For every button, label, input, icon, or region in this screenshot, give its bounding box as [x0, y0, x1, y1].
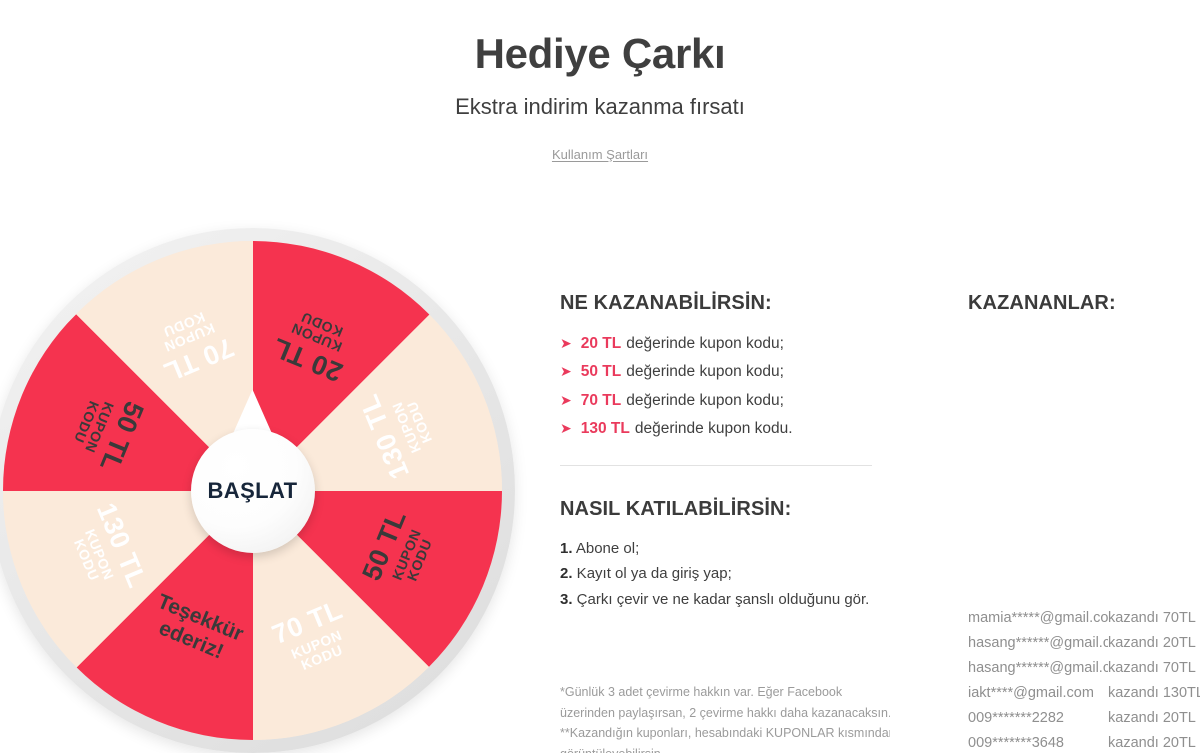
- winner-row: hasang******@gmail.comkazandı 20TL: [968, 631, 1200, 656]
- howto-steps: 1. Abone ol;2. Kayıt ol ya da giriş yap;…: [560, 539, 880, 610]
- winner-prize: kazandı 20TL: [1108, 736, 1196, 751]
- prize-amount: 50 TL: [581, 363, 621, 380]
- step-text: Çarkı çevir ve ne kadar şanslı olduğunu …: [573, 591, 870, 608]
- arrow-bullet-icon: ➤: [560, 393, 572, 407]
- arrow-bullet-icon: ➤: [560, 421, 572, 435]
- prize-text: değerinde kupon kodu;: [626, 392, 784, 409]
- footnote-line: *Günlük 3 adet çevirme hakkın var. Eğer …: [560, 682, 890, 703]
- howto-title: NASIL KATILABİLİRSİN:: [560, 498, 880, 521]
- prize-amount: 130 TL: [581, 420, 630, 437]
- step-number: 3.: [560, 591, 573, 608]
- howto-step: 3. Çarkı çevir ve ne kadar şanslı olduğu…: [560, 590, 880, 610]
- spin-start-label: BAŞLAT: [208, 478, 298, 504]
- winner-user: 009*******3648: [968, 736, 1108, 751]
- winner-user: iakt****@gmail.com: [968, 686, 1108, 701]
- winner-prize: kazandı 20TL: [1108, 636, 1196, 651]
- info-column: NE KAZANABİLİRSİN: ➤20 TLdeğerinde kupon…: [560, 292, 880, 615]
- arrow-bullet-icon: ➤: [560, 336, 572, 350]
- prize-text: değerinde kupon kodu.: [635, 420, 793, 437]
- prize-item: ➤50 TLdeğerinde kupon kodu;: [560, 362, 880, 381]
- prize-item: ➤70 TLdeğerinde kupon kodu;: [560, 391, 880, 410]
- prizes-title: NE KAZANABİLİRSİN:: [560, 292, 880, 315]
- wheel-rim: 20 TLKUPONKODU130 TLKUPONKODU50 TLKUPONK…: [0, 228, 515, 753]
- winner-row: hasang******@gmail.comkazandı 70TL: [968, 656, 1200, 681]
- prize-wheel[interactable]: 20 TLKUPONKODU130 TLKUPONKODU50 TLKUPONK…: [0, 228, 530, 753]
- prize-item: ➤20 TLdeğerinde kupon kodu;: [560, 334, 880, 353]
- prize-list: ➤20 TLdeğerinde kupon kodu;➤50 TLdeğerin…: [560, 334, 880, 439]
- footnotes: *Günlük 3 adet çevirme hakkın var. Eğer …: [560, 682, 890, 753]
- footnote-line: görüntüleyebilirsin.: [560, 744, 890, 753]
- prize-item: ➤130 TLdeğerinde kupon kodu.: [560, 419, 880, 438]
- winner-row: 009*******2282kazandı 20TL: [968, 706, 1200, 731]
- winners-title: KAZANANLAR:: [968, 292, 1200, 315]
- step-text: Abone ol;: [573, 540, 640, 557]
- winner-prize: kazandı 130TL: [1108, 686, 1200, 701]
- gift-wheel-page: Hediye Çarkı Ekstra indirim kazanma fırs…: [0, 0, 1200, 753]
- page-header: Hediye Çarkı Ekstra indirim kazanma fırs…: [0, 0, 1200, 164]
- howto-step: 1. Abone ol;: [560, 539, 880, 559]
- winners-column: KAZANANLAR:: [968, 292, 1200, 315]
- winner-user: hasang******@gmail.com: [968, 661, 1108, 676]
- spin-start-button[interactable]: BAŞLAT: [191, 429, 315, 553]
- howto-step: 2. Kayıt ol ya da giriş yap;: [560, 564, 880, 584]
- terms-link[interactable]: Kullanım Şartları: [552, 147, 648, 162]
- winner-user: hasang******@gmail.com: [968, 636, 1108, 651]
- footnote-line: üzerinden paylaşırsan, 2 çevirme hakkı d…: [560, 703, 890, 724]
- page-subtitle: Ekstra indirim kazanma fırsatı: [0, 77, 1200, 120]
- winner-user: mamia*****@gmail.com: [968, 611, 1108, 626]
- winner-row: 009*******3648kazandı 20TL: [968, 731, 1200, 753]
- section-divider: [560, 465, 872, 466]
- prize-amount: 70 TL: [581, 392, 621, 409]
- arrow-bullet-icon: ➤: [560, 364, 572, 378]
- winner-row: iakt****@gmail.comkazandı 130TL: [968, 681, 1200, 706]
- winner-user: 009*******2282: [968, 711, 1108, 726]
- step-text: Kayıt ol ya da giriş yap;: [573, 565, 732, 582]
- winners-list: mamia*****@gmail.comkazandı 70TLhasang**…: [968, 606, 1200, 753]
- page-title: Hediye Çarkı: [0, 0, 1200, 77]
- winner-prize: kazandı 70TL: [1108, 611, 1196, 626]
- prize-text: değerinde kupon kodu;: [626, 335, 784, 352]
- step-number: 2.: [560, 565, 573, 582]
- prize-text: değerinde kupon kodu;: [626, 363, 784, 380]
- winner-prize: kazandı 70TL: [1108, 661, 1196, 676]
- winner-prize: kazandı 20TL: [1108, 711, 1196, 726]
- footnote-line: **Kazandığın kuponları, hesabındaki KUPO…: [560, 723, 890, 744]
- winner-row: mamia*****@gmail.comkazandı 70TL: [968, 606, 1200, 631]
- prize-amount: 20 TL: [581, 335, 621, 352]
- step-number: 1.: [560, 540, 573, 557]
